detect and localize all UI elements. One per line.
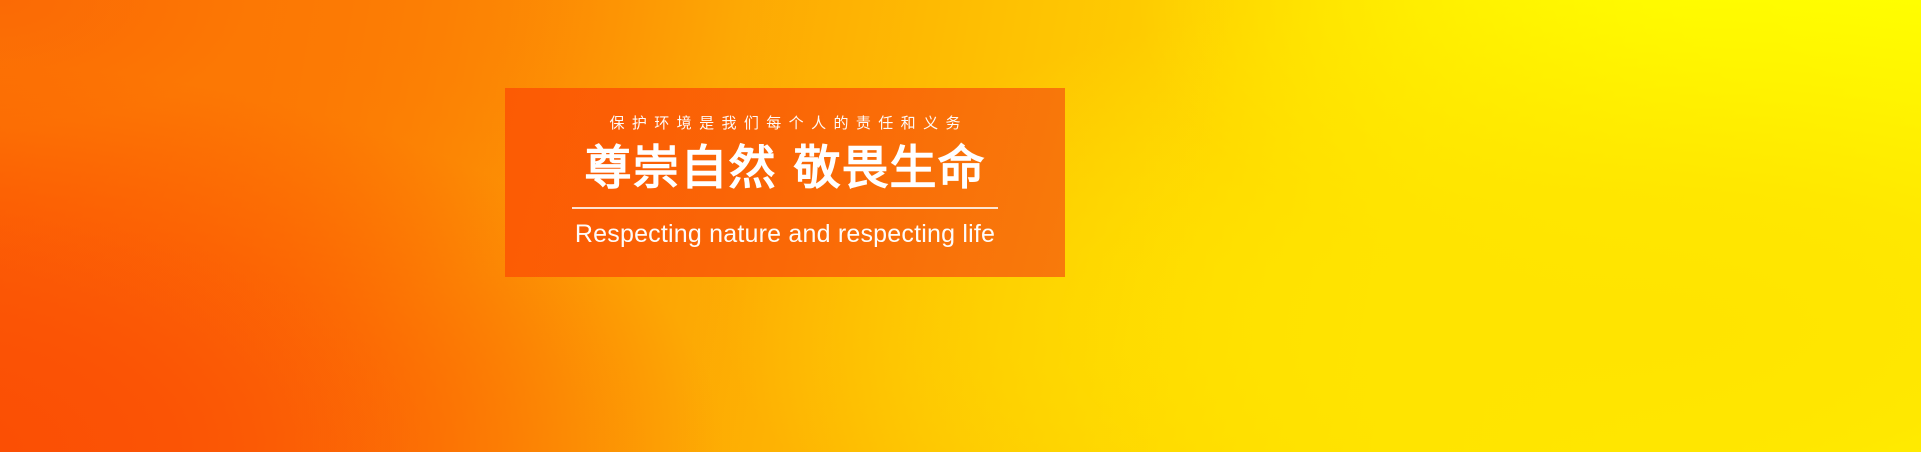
- headline-second-phrase: 敬畏生命: [794, 141, 986, 194]
- tagline-text: 保护环境是我们每个人的责任和义务: [602, 116, 968, 131]
- environmental-banner: 保护环境是我们每个人的责任和义务 尊崇自然敬畏生命 Respecting nat…: [0, 0, 1921, 452]
- divider-rule: [572, 207, 998, 209]
- headline-first-phrase: 尊崇自然: [585, 141, 777, 194]
- slogan-panel: 保护环境是我们每个人的责任和义务 尊崇自然敬畏生命 Respecting nat…: [505, 88, 1065, 277]
- headline-text: 尊崇自然敬畏生命: [585, 144, 986, 192]
- subtitle-text: Respecting nature and respecting life: [575, 221, 995, 249]
